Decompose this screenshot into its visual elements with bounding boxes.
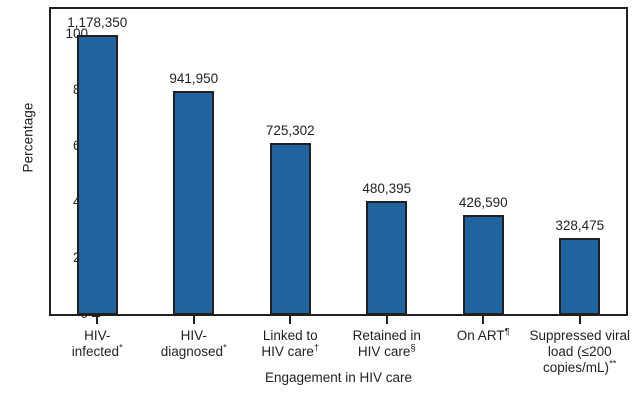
bar: [366, 201, 407, 315]
x-axis-category-label-line: HIV care§: [329, 344, 445, 360]
bar-group: 725,302: [270, 7, 311, 316]
x-axis-ticks-and-labels: HIV-infected*HIV-diagnosed*Linked toHIV …: [49, 316, 628, 403]
bar-value-label: 426,590: [413, 195, 553, 210]
bar: [463, 215, 504, 315]
footnote-marker: ¶: [505, 327, 510, 338]
x-axis-category-label-line: load (≤200: [522, 344, 638, 360]
bar: [559, 238, 600, 315]
bar-value-label: 941,950: [124, 71, 264, 86]
x-tick-mark: [193, 316, 195, 324]
footnote-marker: *: [119, 343, 123, 354]
bar-value-label: 1,178,350: [27, 15, 167, 30]
y-axis-title: Percentage: [21, 38, 36, 238]
bar-group: 328,475: [559, 7, 600, 316]
x-tick-mark: [289, 316, 291, 324]
bar: [77, 35, 118, 315]
footnote-marker: §: [410, 343, 415, 354]
bar-value-label: 725,302: [220, 123, 360, 138]
x-axis-category-label: Suppressed viralload (≤200copies/mL)**: [522, 328, 638, 376]
x-tick-mark: [482, 316, 484, 324]
bar-group: 1,178,350: [77, 7, 118, 316]
x-axis-category-label-line: Suppressed viral: [522, 328, 638, 344]
bar: [270, 143, 311, 315]
footnote-marker: †: [314, 343, 319, 354]
bar-value-label: 328,475: [510, 218, 643, 233]
bar-group: 426,590: [463, 7, 504, 316]
footnote-marker: **: [609, 359, 616, 370]
hiv-care-continuum-bar-chart: Percentage 020406080100 1,178,350941,950…: [0, 0, 643, 403]
bar-group: 480,395: [366, 7, 407, 316]
x-axis-title: Engagement in HIV care: [49, 370, 628, 385]
bar-value-label: 480,395: [317, 181, 457, 196]
bar-group: 941,950: [173, 7, 214, 316]
x-tick-mark: [386, 316, 388, 324]
bars-layer: 1,178,350941,950725,302480,395426,590328…: [49, 7, 628, 316]
x-tick-mark: [96, 316, 98, 324]
footnote-marker: *: [223, 343, 227, 354]
x-tick-mark: [579, 316, 581, 324]
bar: [173, 91, 214, 315]
